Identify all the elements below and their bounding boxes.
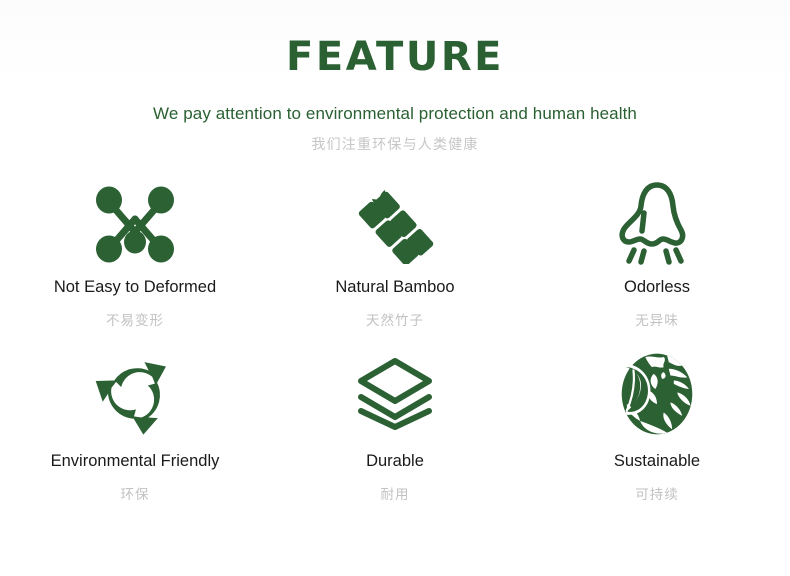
feature-label-en: Odorless: [624, 278, 690, 297]
feature-item-not-easy-to-deformed: Not Easy to Deformed 不易变形: [10, 178, 260, 329]
feature-item-odorless: Odorless 无异味: [532, 178, 782, 329]
feature-label-en: Sustainable: [614, 452, 700, 471]
feature-label-en: Environmental Friendly: [51, 452, 220, 471]
feature-label-en: Durable: [366, 452, 424, 471]
feature-label-cn: 环保: [121, 483, 150, 503]
feature-item-sustainable: Sustainable 可持续: [532, 344, 782, 503]
page-title: FEATURE: [0, 36, 790, 78]
feature-row: Not Easy to Deformed 不易变形: [0, 178, 790, 338]
layers-stack-icon: [355, 344, 435, 444]
globe-leaf-icon: [615, 344, 699, 444]
feature-grid: Not Easy to Deformed 不易变形: [0, 178, 790, 514]
feature-label-cn: 可持续: [635, 483, 679, 503]
recycle-icon: [92, 344, 178, 444]
feature-label-cn: 无异味: [635, 309, 679, 329]
feature-label-cn: 天然竹子: [366, 309, 424, 329]
subtitle-chinese: 我们注重环保与人类健康: [0, 134, 790, 154]
feature-label-cn: 不易变形: [106, 309, 164, 329]
feature-label-en: Natural Bamboo: [335, 278, 454, 297]
section-header: FEATURE We pay attention to environmenta…: [0, 0, 790, 154]
feature-label-en: Not Easy to Deformed: [54, 278, 216, 297]
feature-item-natural-bamboo: Natural Bamboo 天然竹子: [270, 178, 520, 329]
subtitle-english: We pay attention to environmental protec…: [0, 104, 790, 124]
bamboo-icon: [356, 178, 434, 270]
nose-icon: [619, 178, 695, 270]
feature-item-environmental-friendly: Environmental Friendly 环保: [10, 344, 260, 503]
feature-item-durable: Durable 耐用: [270, 344, 520, 503]
feature-row: Environmental Friendly 环保 Durable 耐用: [0, 344, 790, 514]
feature-section: FEATURE We pay attention to environmenta…: [0, 0, 790, 576]
molecule-nodes-icon: [94, 178, 176, 270]
feature-label-cn: 耐用: [381, 483, 410, 503]
